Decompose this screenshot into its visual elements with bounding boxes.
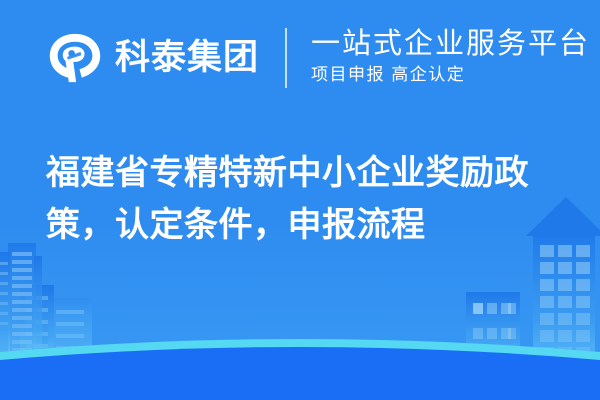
brand-name: 科泰集团 [115, 40, 259, 75]
slogan-main: 一站式企业服务平台 [311, 28, 590, 60]
banner-header: 科泰集团 一站式企业服务平台 项目申报 高企认定 [0, 0, 600, 115]
slogan-block: 一站式企业服务平台 项目申报 高企认定 [311, 28, 590, 88]
header-divider [285, 28, 287, 88]
bottom-arc-blue [0, 347, 600, 400]
ketai-group-logo-icon [47, 30, 103, 86]
promo-banner: 科泰集团 一站式企业服务平台 项目申报 高企认定 福建省专精特新中小企业奖励政策… [0, 0, 600, 400]
brand-lockup: 科泰集团 [47, 30, 259, 86]
slogan-sub: 项目申报 高企认定 [311, 62, 590, 88]
page-title: 福建省专精特新中小企业奖励政策，认定条件，申报流程 [46, 148, 566, 251]
left-tall-tower [0, 243, 42, 358]
